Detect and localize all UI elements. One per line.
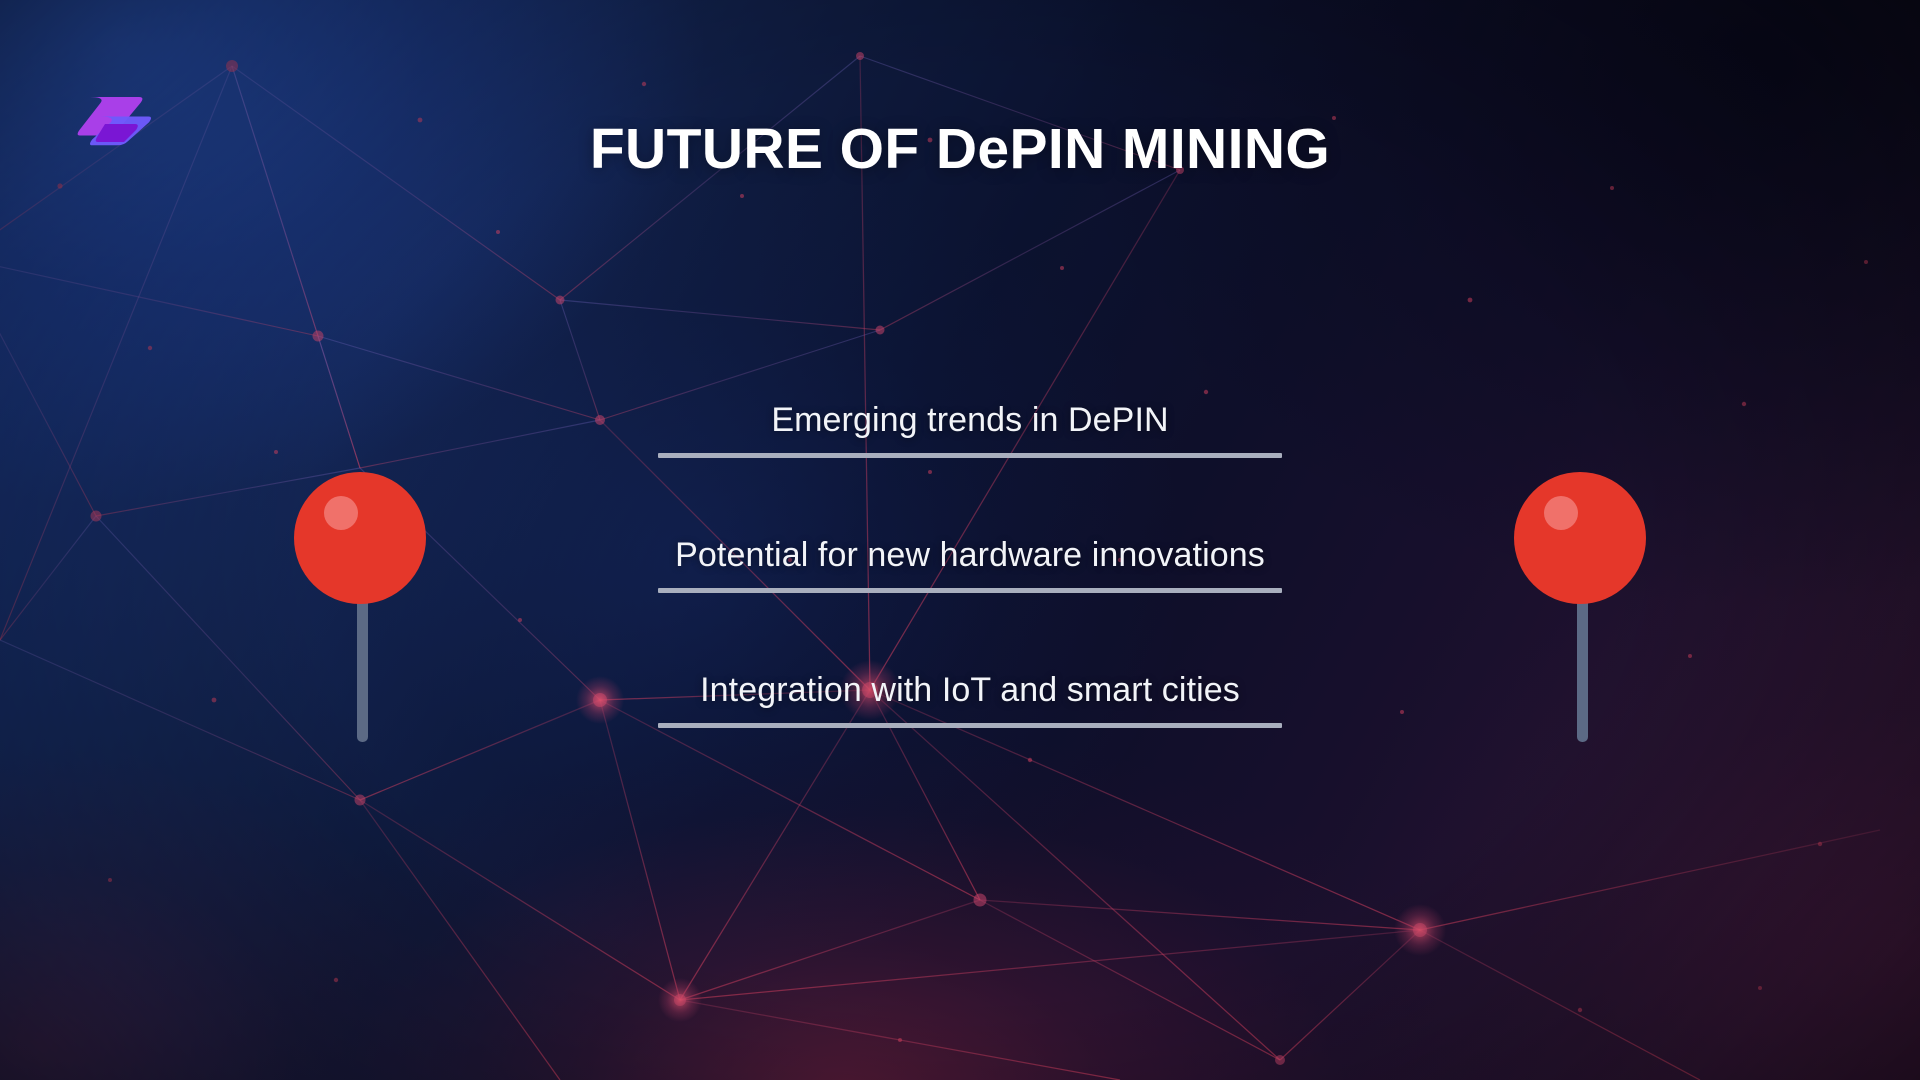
map-pin-right (1514, 472, 1646, 742)
bullet-list: Emerging trends in DePIN Potential for n… (658, 400, 1282, 728)
list-item[interactable]: Integration with IoT and smart cities (658, 670, 1282, 728)
bullet-label: Integration with IoT and smart cities (658, 670, 1282, 723)
bullet-underline (658, 453, 1282, 458)
list-item[interactable]: Emerging trends in DePIN (658, 400, 1282, 458)
slide-canvas: FUTURE OF DePIN MINING Emerging trends i… (0, 0, 1920, 1080)
page-title: FUTURE OF DePIN MINING (0, 121, 1920, 178)
pin-highlight (324, 496, 358, 530)
bullet-underline (658, 588, 1282, 593)
bullet-underline (658, 723, 1282, 728)
list-item[interactable]: Potential for new hardware innovations (658, 535, 1282, 593)
pin-head-icon (1514, 472, 1646, 604)
map-pin-left (294, 472, 426, 742)
bullet-label: Emerging trends in DePIN (658, 400, 1282, 453)
pin-head-icon (294, 472, 426, 604)
pin-highlight (1544, 496, 1578, 530)
bullet-label: Potential for new hardware innovations (658, 535, 1282, 588)
